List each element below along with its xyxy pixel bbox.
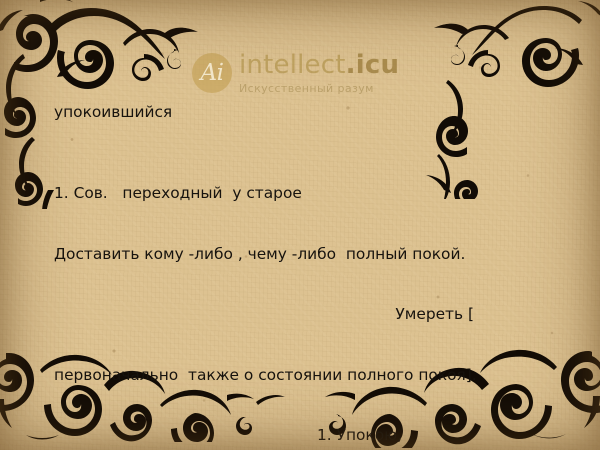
- page-vignette: [0, 0, 600, 450]
- slide-canvas: Ai intellect.icu Искусственный разум упо…: [0, 0, 600, 450]
